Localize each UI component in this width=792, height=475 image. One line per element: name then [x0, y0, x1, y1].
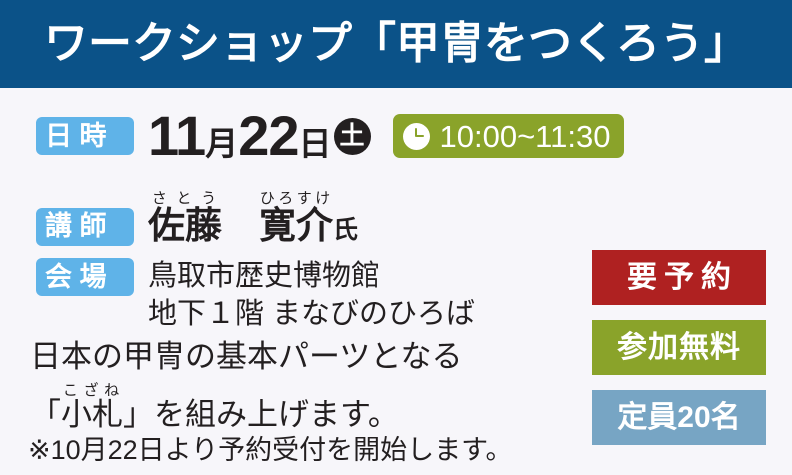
teacher-family-name-ruby: 佐藤さとう — [148, 205, 222, 246]
month-number: 11 — [148, 108, 205, 164]
venue-line-2: 地下１階 まなびのひろば — [148, 296, 475, 334]
teacher-row: 講 師 佐藤さとう 寛介ひろすけ氏 — [36, 190, 358, 246]
teacher-family-name-reading: さとう — [148, 190, 222, 207]
description-line-1: 日本の甲冑の基本パーツとなる — [30, 336, 462, 378]
description-line-2: 「小札こざね」を組み上げます。 — [30, 382, 462, 436]
description-line-2-rest: 」を組み上げます。 — [123, 397, 399, 432]
teacher-honorific: 氏 — [333, 216, 358, 244]
venue-label-chip: 会 場 — [36, 258, 134, 296]
date-label-chip: 日 時 — [36, 117, 134, 155]
description-open-bracket: 「 — [30, 397, 61, 432]
day-unit: 日 — [299, 127, 332, 160]
teacher-name-group: 佐藤さとう 寛介ひろすけ氏 — [148, 190, 358, 246]
teacher-label-chip: 講 師 — [36, 208, 134, 246]
teacher-name: 佐藤さとう 寛介ひろすけ氏 — [148, 205, 358, 246]
teacher-given-name-reading: ひろすけ — [259, 190, 333, 207]
teacher-label-text: 講 師 — [45, 213, 107, 240]
venue-value-group: 鳥取市歴史博物館 地下１階 まなびのひろば — [148, 258, 475, 333]
teacher-given-name: 寛介 — [259, 205, 333, 246]
venue-line-1: 鳥取市歴史博物館 — [148, 258, 475, 296]
date-label-text: 日 時 — [45, 123, 107, 150]
description-text: 日本の甲冑の基本パーツとなる 「小札こざね」を組み上げます。 — [30, 336, 462, 436]
day-of-week-badge: 土 — [334, 118, 371, 155]
month-unit: 月 — [205, 127, 238, 160]
kozane-word: 小札 — [61, 397, 123, 432]
footnote: ※10月22日より予約受付を開始します。 — [28, 437, 512, 464]
kozane-reading: こざね — [61, 382, 123, 399]
venue-row: 会 場 鳥取市歴史博物館 地下１階 まなびのひろば — [36, 258, 475, 333]
day-number: 22 — [238, 108, 298, 164]
kozane-ruby: 小札こざね — [61, 397, 123, 432]
header-banner: ワークショップ「甲冑をつくろう」 — [0, 0, 792, 88]
badge-free-participation: 参加無料 — [592, 320, 766, 375]
date-row: 日 時 11 月 22 日 土 10:00~11:30 — [36, 108, 624, 164]
badge-capacity: 定員20名 — [592, 390, 766, 445]
time-pill: 10:00~11:30 — [393, 114, 625, 158]
clock-icon — [403, 123, 430, 150]
teacher-given-name-ruby: 寛介ひろすけ — [259, 205, 333, 246]
time-text: 10:00~11:30 — [440, 121, 611, 152]
date-value-group: 11 月 22 日 土 — [148, 108, 371, 164]
teacher-family-name: 佐藤 — [148, 205, 222, 246]
venue-label-text: 会 場 — [45, 264, 107, 291]
badge-reservation-required: 要予約 — [592, 250, 766, 305]
badge-group: 要予約 参加無料 定員20名 — [592, 250, 766, 445]
page-title: ワークショップ「甲冑をつくろう」 — [44, 22, 748, 66]
